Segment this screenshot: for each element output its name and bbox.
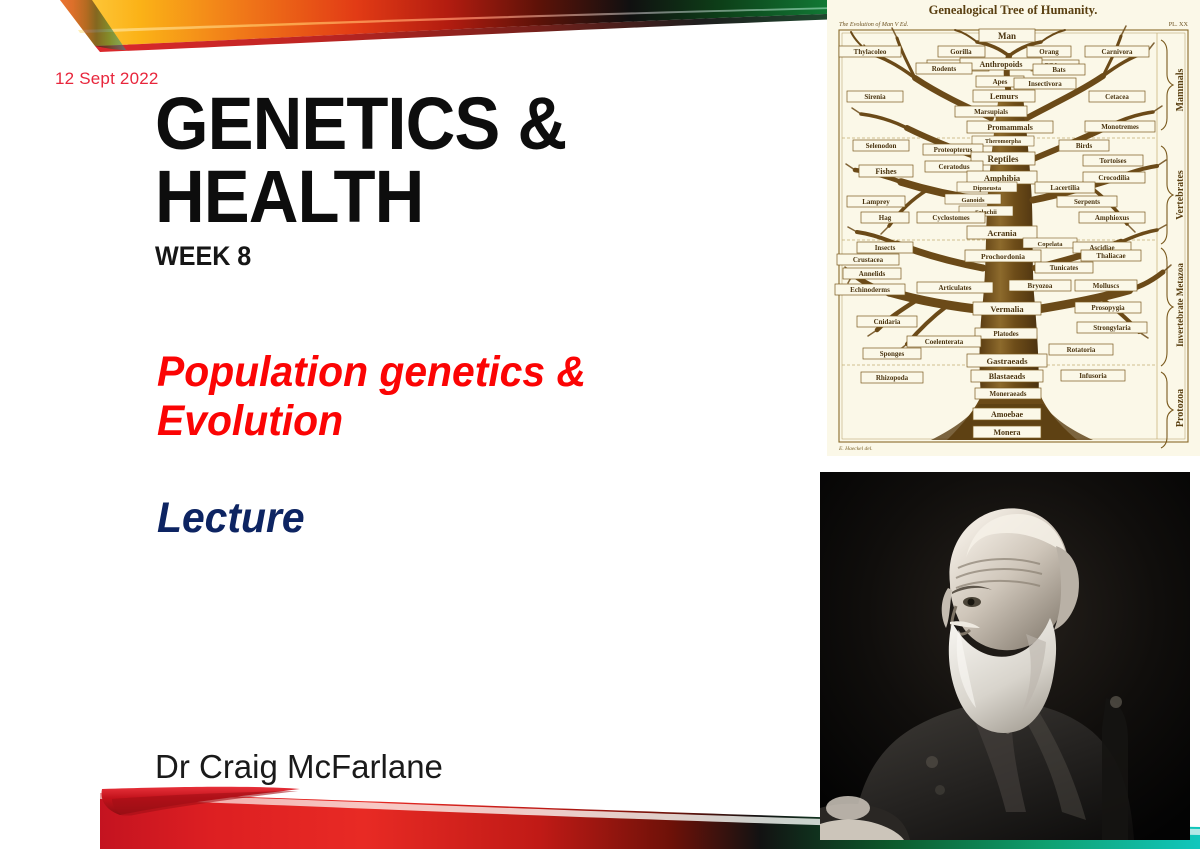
svg-text:Molluscs: Molluscs — [1093, 282, 1120, 290]
svg-text:Lamprey: Lamprey — [862, 198, 890, 206]
svg-text:Reptiles: Reptiles — [988, 154, 1019, 164]
svg-text:Fishes: Fishes — [875, 167, 896, 176]
svg-text:Gastraeads: Gastraeads — [986, 356, 1028, 366]
svg-text:Birds: Birds — [1076, 142, 1093, 150]
charles-darwin-photograph — [820, 472, 1190, 840]
svg-text:Lacertilia: Lacertilia — [1050, 184, 1080, 192]
svg-text:Rotatoria: Rotatoria — [1067, 346, 1096, 354]
presentation-slide: 12 Sept 2022 GENETICS & HEALTH WEEK 8 Po… — [0, 0, 1200, 849]
svg-text:Dipneusta: Dipneusta — [973, 185, 1002, 192]
svg-text:Prochordonia: Prochordonia — [981, 252, 1025, 261]
svg-text:Marsupials: Marsupials — [974, 108, 1008, 116]
svg-text:Monera: Monera — [993, 428, 1020, 437]
svg-text:Carnivora: Carnivora — [1101, 48, 1133, 56]
svg-text:Annelids: Annelids — [859, 270, 886, 278]
svg-text:Sirenia: Sirenia — [864, 93, 886, 101]
svg-text:Crocodilia: Crocodilia — [1098, 174, 1130, 182]
tree-plate-credit: E. Haeckel del. — [838, 446, 873, 452]
page-title: GENETICS & HEALTH — [155, 88, 750, 233]
svg-text:Acrania: Acrania — [987, 228, 1017, 238]
svg-text:Apes: Apes — [993, 78, 1008, 86]
tree-group-protozoa: Protozoa — [1175, 389, 1186, 427]
svg-text:Amoebae: Amoebae — [991, 410, 1023, 419]
tree-group-invertebrate-metazoa: Invertebrate Metazoa — [1175, 263, 1185, 347]
lecture-label: Lecture — [157, 494, 305, 543]
svg-text:Serpents: Serpents — [1074, 198, 1100, 206]
svg-text:Insectivora: Insectivora — [1028, 80, 1062, 88]
genealogical-tree-image: Genealogical Tree of Humanity. The Evolu… — [827, 0, 1200, 456]
svg-text:Ganoids: Ganoids — [961, 197, 985, 204]
title-block: GENETICS & HEALTH WEEK 8 — [155, 88, 795, 272]
svg-text:Bryozoa: Bryozoa — [1028, 282, 1053, 290]
svg-text:Copelata: Copelata — [1038, 241, 1064, 248]
svg-text:Lemurs: Lemurs — [990, 91, 1019, 101]
svg-text:Orang: Orang — [1039, 48, 1059, 56]
svg-text:Monotremes: Monotremes — [1101, 123, 1139, 131]
svg-text:Rodents: Rodents — [932, 65, 957, 73]
svg-text:Cetacea: Cetacea — [1105, 93, 1129, 101]
svg-text:Amphioxus: Amphioxus — [1095, 214, 1130, 222]
slide-date: 12 Sept 2022 — [55, 69, 159, 89]
svg-text:Strongylaria: Strongylaria — [1093, 324, 1131, 332]
svg-text:Anthropoids: Anthropoids — [980, 60, 1023, 69]
svg-text:Theromorpha: Theromorpha — [985, 139, 1021, 145]
svg-text:Crustacea: Crustacea — [853, 256, 884, 264]
svg-text:Articulates: Articulates — [938, 284, 971, 292]
svg-text:Sponges: Sponges — [880, 350, 905, 358]
svg-text:Coelenterata: Coelenterata — [925, 338, 964, 346]
svg-text:Tunicates: Tunicates — [1050, 264, 1079, 272]
svg-text:Bats: Bats — [1052, 66, 1066, 74]
svg-text:Amphibia: Amphibia — [984, 173, 1021, 183]
svg-text:Echinoderms: Echinoderms — [850, 286, 890, 294]
svg-text:Insects: Insects — [875, 244, 896, 252]
svg-text:Hag: Hag — [879, 214, 892, 222]
slide-subtitle: Population genetics & Evolution — [157, 348, 746, 445]
svg-text:Thaliacae: Thaliacae — [1096, 252, 1125, 260]
svg-text:Cyclostomes: Cyclostomes — [932, 214, 970, 222]
week-label: WEEK 8 — [155, 241, 750, 272]
svg-text:Platodes: Platodes — [993, 330, 1019, 338]
svg-text:Infusoria: Infusoria — [1079, 372, 1107, 380]
svg-text:Rhizopoda: Rhizopoda — [876, 374, 909, 382]
svg-text:Moneraeads: Moneraeads — [990, 390, 1027, 398]
tree-plate-number: PL. XX — [1169, 21, 1189, 28]
svg-text:Cnidaria: Cnidaria — [874, 318, 901, 326]
svg-text:Promammals: Promammals — [987, 123, 1033, 132]
svg-text:Prosopygia: Prosopygia — [1091, 304, 1125, 312]
svg-text:Thylacoleo: Thylacoleo — [854, 48, 887, 56]
tree-group-mammals: Mammals — [1175, 69, 1186, 112]
svg-text:Man: Man — [998, 31, 1016, 41]
tree-plate-subtitle: The Evolution of Man V Ed. — [839, 21, 908, 28]
svg-text:Ceratodus: Ceratodus — [938, 163, 969, 171]
svg-text:Selenodon: Selenodon — [866, 142, 897, 150]
svg-text:Blastaeads: Blastaeads — [989, 372, 1025, 381]
svg-text:Tortoises: Tortoises — [1100, 157, 1127, 165]
tree-plate-title: Genealogical Tree of Humanity. — [929, 3, 1098, 17]
svg-text:Proteopterus: Proteopterus — [934, 146, 973, 154]
presenter-name: Dr Craig McFarlane — [155, 748, 443, 786]
tree-group-vertebrates: Vertebrates — [1175, 170, 1186, 220]
svg-text:Vermalia: Vermalia — [990, 304, 1024, 314]
svg-text:Gorilla: Gorilla — [950, 48, 972, 56]
